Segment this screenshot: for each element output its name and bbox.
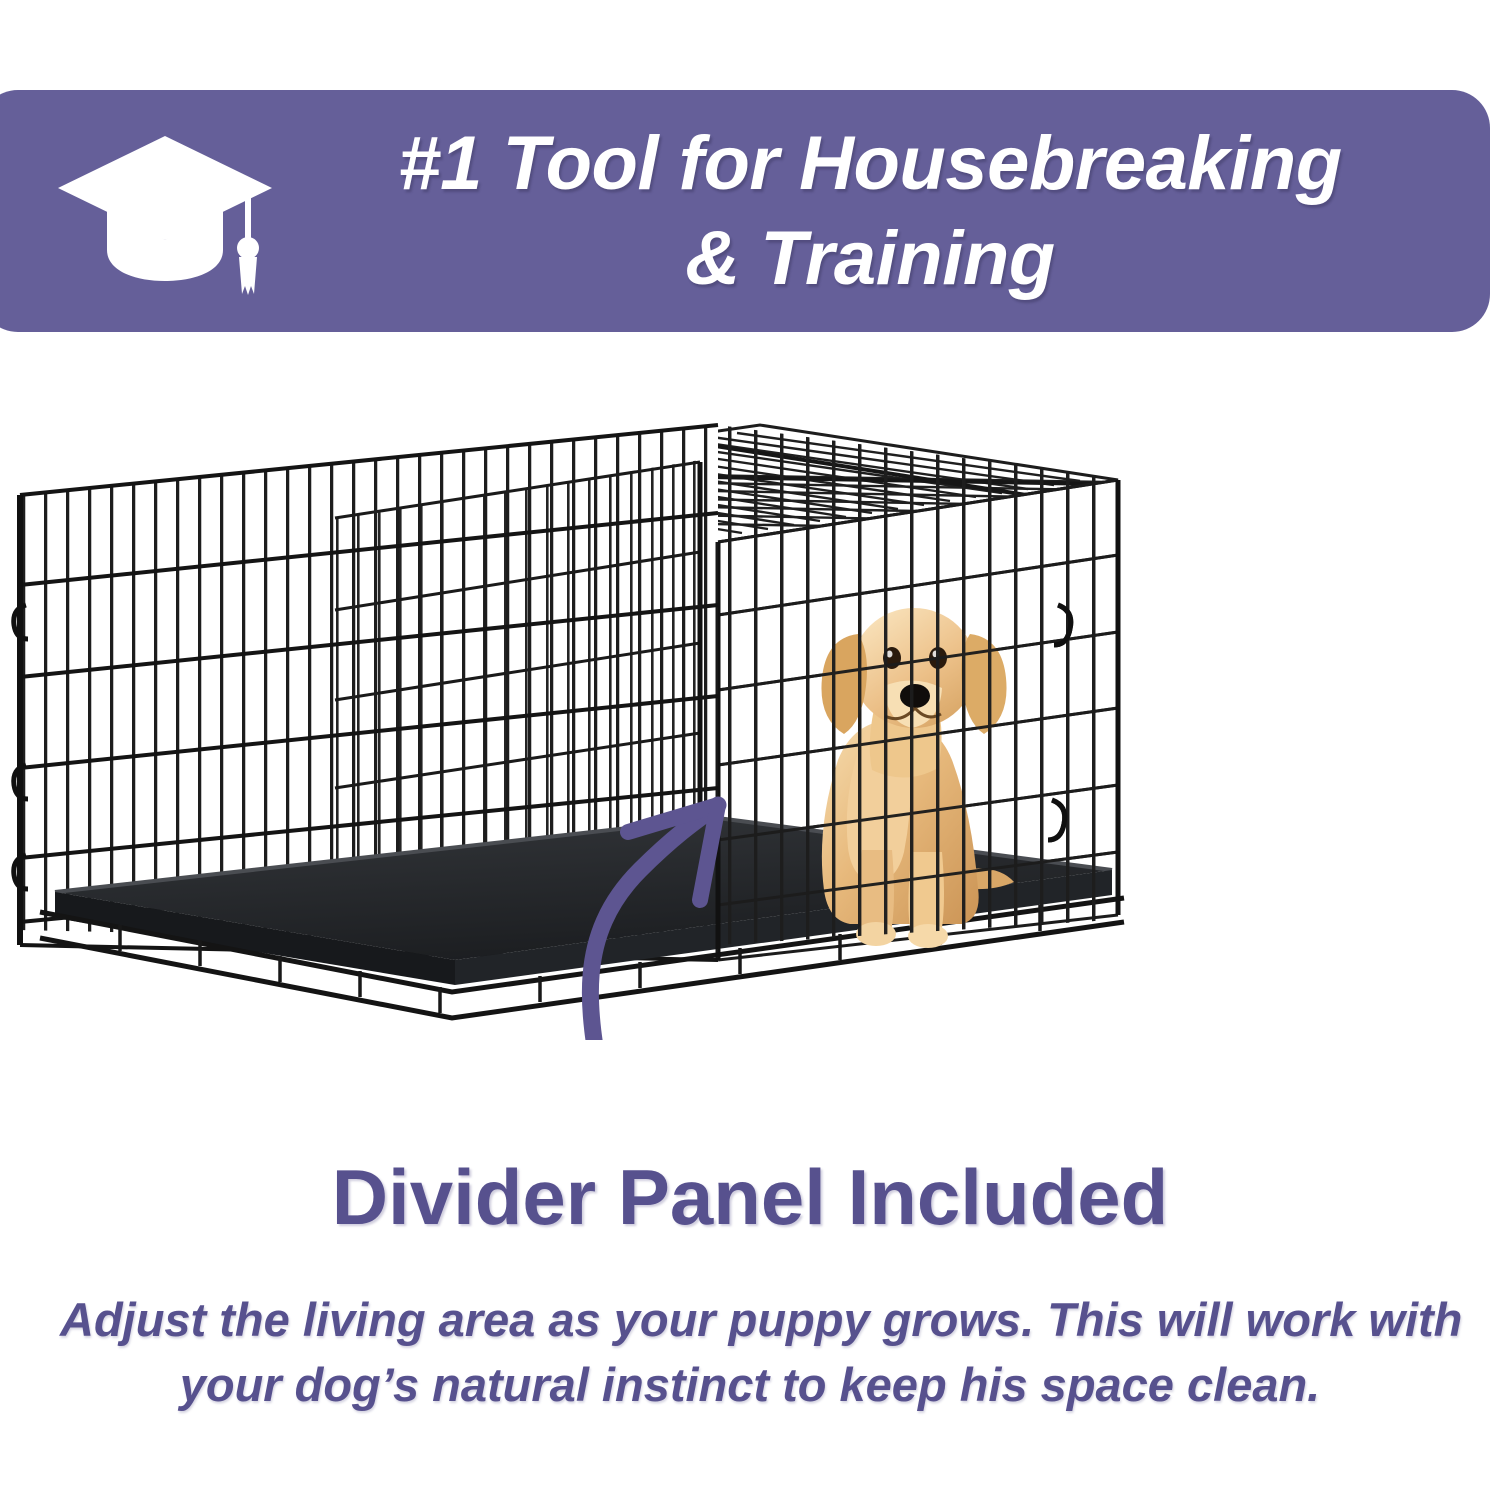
promo-banner: #1 Tool for Housebreaking & Training (0, 90, 1490, 332)
banner-title-line-1: #1 Tool for Housebreaking (398, 116, 1341, 211)
banner-title: #1 Tool for Housebreaking & Training (280, 100, 1460, 322)
banner-title-line-2: & Training (685, 211, 1054, 306)
crate-bars-overlay (700, 420, 1140, 980)
body-copy-line-1: Adjust the living area as your puppy gro… (60, 1288, 1440, 1353)
body-copy-line-2: your dog’s natural instinct to keep his … (60, 1353, 1440, 1418)
dog-crate-illustration (0, 400, 1500, 1040)
body-copy: Adjust the living area as your puppy gro… (60, 1288, 1440, 1418)
page-headline: Divider Panel Included (0, 1152, 1500, 1243)
graduation-cap-icon (50, 118, 280, 303)
product-photo (0, 400, 1500, 1040)
